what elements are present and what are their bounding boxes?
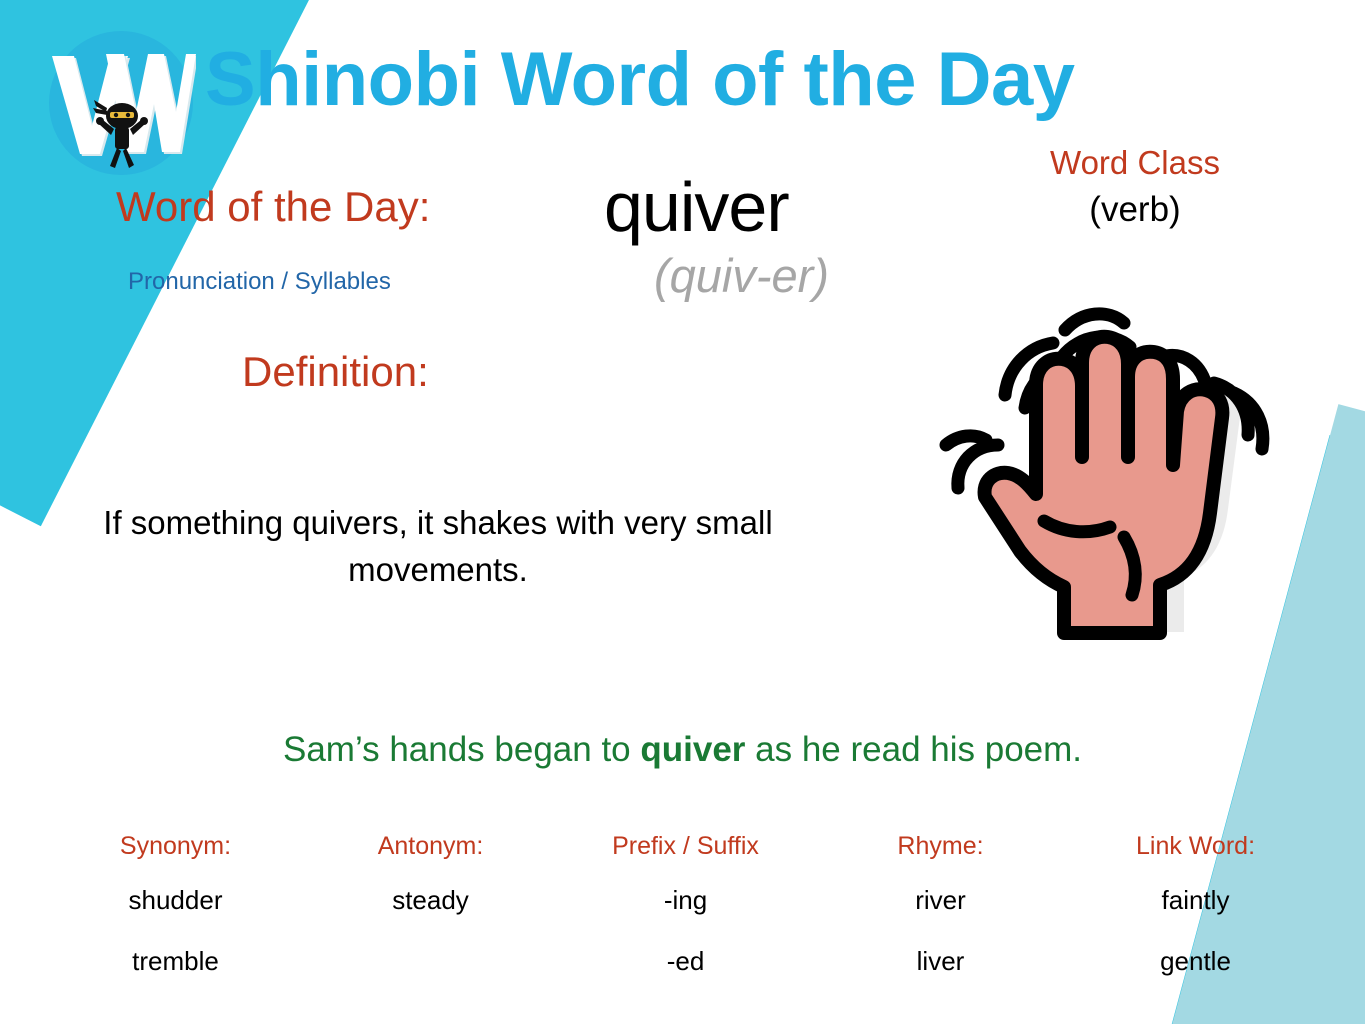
- table-cell: tremble: [132, 931, 219, 992]
- table-cell: -ed: [667, 931, 705, 992]
- shinobi-ninja-w-logo-icon: [46, 28, 196, 178]
- definition-text: If something quivers, it shakes with ver…: [60, 500, 816, 594]
- example-sentence-after: as he read his poem.: [745, 730, 1082, 769]
- table-cell: -ing: [664, 870, 707, 931]
- column-header: Antonym:: [378, 822, 484, 870]
- table-cell: steady: [392, 870, 469, 931]
- example-sentence-before: Sam’s hands began to: [283, 730, 640, 769]
- example-sentence-highlight: quiver: [640, 730, 745, 769]
- page-title: Shinobi Word of the Day: [205, 42, 1335, 118]
- table-cell: gentle: [1160, 931, 1231, 992]
- column-header: Synonym:: [120, 822, 231, 870]
- definition-label: Definition:: [242, 348, 429, 396]
- column-header: Prefix / Suffix: [612, 822, 759, 870]
- word-of-the-day-label: Word of the Day:: [116, 183, 430, 231]
- pronunciation-syllables-label: Pronunciation / Syllables: [128, 268, 391, 296]
- table-cell: river: [915, 870, 966, 931]
- column-header: Link Word:: [1136, 822, 1255, 870]
- word-term: quiver: [604, 172, 789, 242]
- table-cell: shudder: [129, 870, 223, 931]
- table-column-prefix-suffix: Prefix / Suffix -ing -ed: [558, 822, 813, 992]
- word-class-label: Word Class: [930, 144, 1340, 182]
- column-header: Rhyme:: [897, 822, 983, 870]
- word-of-the-day-slide: Shinobi Word of the Day Word of the Day:…: [0, 0, 1365, 1024]
- word-attributes-table: Synonym: shudder tremble Antonym: steady…: [48, 822, 1323, 992]
- table-cell: liver: [917, 931, 965, 992]
- table-column-antonym: Antonym: steady: [303, 822, 558, 992]
- word-pronunciation: (quiv-er): [654, 252, 829, 299]
- example-sentence: Sam’s hands began to quiver as he read h…: [60, 730, 1305, 770]
- word-class-value: (verb): [930, 190, 1340, 230]
- table-column-synonym: Synonym: shudder tremble: [48, 822, 303, 992]
- quivering-hand-icon: [922, 285, 1282, 655]
- table-column-rhyme: Rhyme: river liver: [813, 822, 1068, 992]
- table-cell: faintly: [1162, 870, 1230, 931]
- table-column-link-word: Link Word: faintly gentle: [1068, 822, 1323, 992]
